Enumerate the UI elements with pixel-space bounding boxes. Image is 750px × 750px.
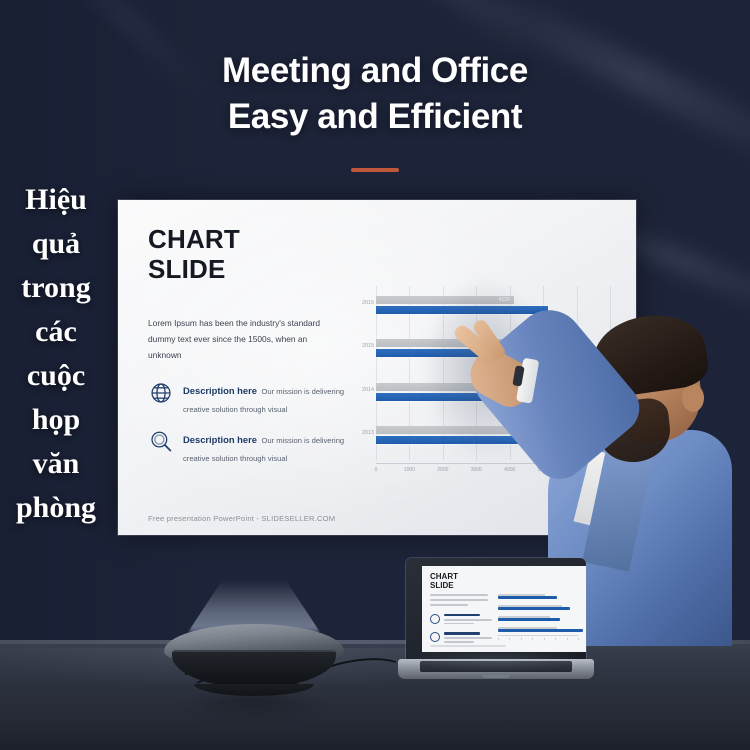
list-item: Description here Our mission is deliveri… bbox=[148, 429, 363, 466]
laptop-bar-chart bbox=[498, 592, 578, 636]
laptop-slide-preview: CHART SLIDE bbox=[422, 566, 586, 652]
slide-footer: Free presentation PowerPoint - SLIDESELL… bbox=[148, 514, 335, 523]
chart-y-tick-label: 2016 bbox=[355, 300, 374, 306]
list-item bbox=[430, 632, 492, 644]
list-item-body: Description here Our mission is deliveri… bbox=[183, 380, 363, 417]
laptop-chart-tick bbox=[555, 638, 556, 640]
side-caption-word: trong bbox=[0, 266, 112, 310]
list-item-body bbox=[444, 614, 492, 626]
laptop-slide-title-line-1: CHART bbox=[430, 572, 458, 581]
laptop-slide-title: CHART SLIDE bbox=[430, 572, 458, 590]
slide-description-list: Description here Our mission is deliveri… bbox=[148, 380, 363, 478]
list-item-body bbox=[444, 632, 492, 644]
page-title: Meeting and Office Easy and Efficient bbox=[0, 48, 750, 140]
laptop-chart-bar bbox=[498, 629, 583, 632]
laptop-chart-bar bbox=[498, 596, 557, 599]
laptop-notch bbox=[482, 675, 510, 678]
headline-accent-rule bbox=[351, 168, 399, 172]
laptop-slide-paragraph bbox=[430, 594, 488, 609]
globe-icon bbox=[430, 614, 440, 624]
side-caption-word: họp bbox=[0, 398, 112, 442]
laptop-screen: CHART SLIDE bbox=[422, 566, 586, 652]
laptop-chart-tick bbox=[532, 638, 533, 640]
list-item bbox=[430, 614, 492, 626]
list-item-heading: Description here bbox=[183, 434, 257, 445]
chart-x-tick-label: 1000 bbox=[404, 467, 415, 473]
list-item-heading: Description here bbox=[183, 385, 257, 396]
laptop: CHART SLIDE bbox=[398, 558, 594, 684]
laptop-chart-tick bbox=[567, 638, 568, 640]
laptop-screen-glow bbox=[408, 654, 584, 672]
presenter-ear bbox=[682, 384, 704, 412]
laptop-chart-tick bbox=[544, 638, 545, 640]
globe-icon bbox=[148, 380, 174, 406]
projector-reflection bbox=[178, 696, 330, 722]
slide-title-line-1: CHART bbox=[148, 224, 240, 254]
chart-x-tick-label: 0 bbox=[375, 467, 378, 473]
chart-y-tick-label: 2013 bbox=[355, 430, 374, 436]
laptop-chart-tick bbox=[509, 638, 510, 640]
slide-paragraph: Lorem Ipsum has been the industry's stan… bbox=[148, 315, 343, 363]
projector-body bbox=[172, 652, 336, 688]
laptop-slide-footer bbox=[430, 645, 506, 647]
laptop-chart-bar bbox=[498, 607, 570, 610]
side-caption-word: phòng bbox=[0, 486, 112, 530]
chart-x-tick-label: 2000 bbox=[437, 467, 448, 473]
laptop-chart-axis bbox=[498, 635, 578, 636]
side-caption-word: văn bbox=[0, 442, 112, 486]
laptop-lid: CHART SLIDE bbox=[406, 558, 586, 660]
laptop-chart-bar bbox=[498, 618, 560, 621]
chart-y-tick-label: 2015 bbox=[355, 343, 374, 349]
slide-title: CHART SLIDE bbox=[148, 224, 240, 284]
side-caption-word: cuộc bbox=[0, 354, 112, 398]
projector-base bbox=[194, 684, 314, 696]
slide-title-line-2: SLIDE bbox=[148, 254, 240, 284]
side-caption-word: các bbox=[0, 310, 112, 354]
side-caption: Hiệu quả trong các cuộc họp văn phòng bbox=[0, 178, 112, 530]
list-item-body: Description here Our mission is deliveri… bbox=[183, 429, 363, 466]
laptop-chart-tick bbox=[498, 638, 499, 640]
headline-line-2: Easy and Efficient bbox=[0, 94, 750, 140]
laptop-chart-tick bbox=[578, 638, 579, 640]
chart-y-tick-label: 2014 bbox=[355, 387, 374, 393]
list-item: Description here Our mission is deliveri… bbox=[148, 380, 363, 417]
screenshot-root: Meeting and Office Easy and Efficient Hi… bbox=[0, 0, 750, 750]
side-caption-word: Hiệu bbox=[0, 178, 112, 222]
search-icon bbox=[148, 429, 174, 455]
laptop-slide-title-line-2: SLIDE bbox=[430, 581, 458, 590]
projector bbox=[160, 614, 348, 704]
search-icon bbox=[430, 632, 440, 642]
laptop-chart-tick bbox=[521, 638, 522, 640]
chart-x-tick-label: 3000 bbox=[471, 467, 482, 473]
headline-line-1: Meeting and Office bbox=[222, 51, 528, 90]
side-caption-word: quả bbox=[0, 222, 112, 266]
